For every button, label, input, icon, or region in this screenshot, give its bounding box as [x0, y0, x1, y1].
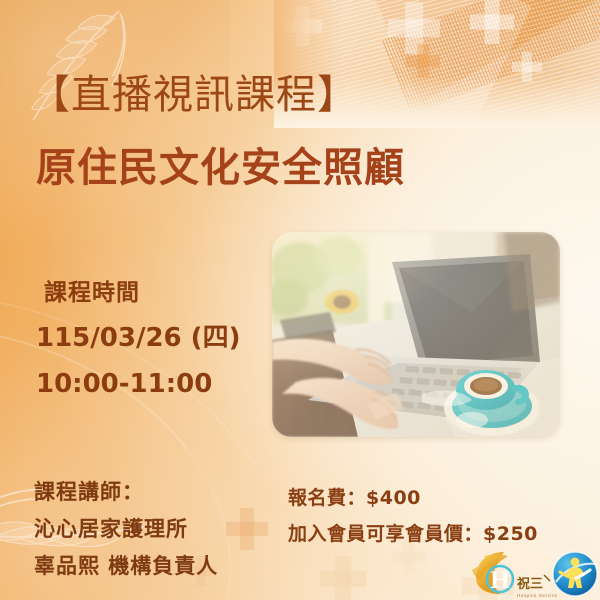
speaker-organization: 沁心居家護理所: [34, 519, 218, 540]
speaker-label: 課程講師：: [34, 482, 218, 503]
speaker-name-title: 辜品熙 機構負責人: [34, 556, 218, 577]
fee-member: 加入會員可享會員價：$250: [288, 525, 538, 544]
page-title: 【直播視訊課程】: [30, 75, 358, 115]
laptop-typing-photo: [272, 232, 560, 437]
medical-cross-icon: [392, 540, 426, 574]
logo-text-zhusan: 祝三: [517, 576, 543, 592]
logo-group: H 祝三 Hospice Service: [470, 548, 598, 600]
poster-canvas: 【直播視訊課程】 原住民文化安全照顧 課程時間 115/03/26 (四) 10…: [0, 0, 600, 600]
schedule-block: 課程時間 115/03/26 (四) 10:00-11:00: [44, 282, 240, 397]
logo-subtext: Hospice Service: [517, 593, 558, 598]
logo-letter-h: H: [490, 567, 510, 594]
speaker-block: 課程講師： 沁心居家護理所 辜品熙 機構負責人: [34, 482, 218, 577]
medical-cross-icon: [320, 556, 366, 600]
schedule-date: 115/03/26 (四): [36, 325, 240, 351]
fee-registration: 報名費：$400: [288, 489, 538, 508]
schedule-time: 10:00-11:00: [36, 371, 240, 397]
page-subtitle: 原住民文化安全照顧: [36, 148, 405, 188]
schedule-label: 課程時間: [44, 282, 240, 305]
shade-top-left: [0, 0, 230, 240]
fees-block: 報名費：$400 加入會員可享會員價：$250: [288, 489, 538, 544]
